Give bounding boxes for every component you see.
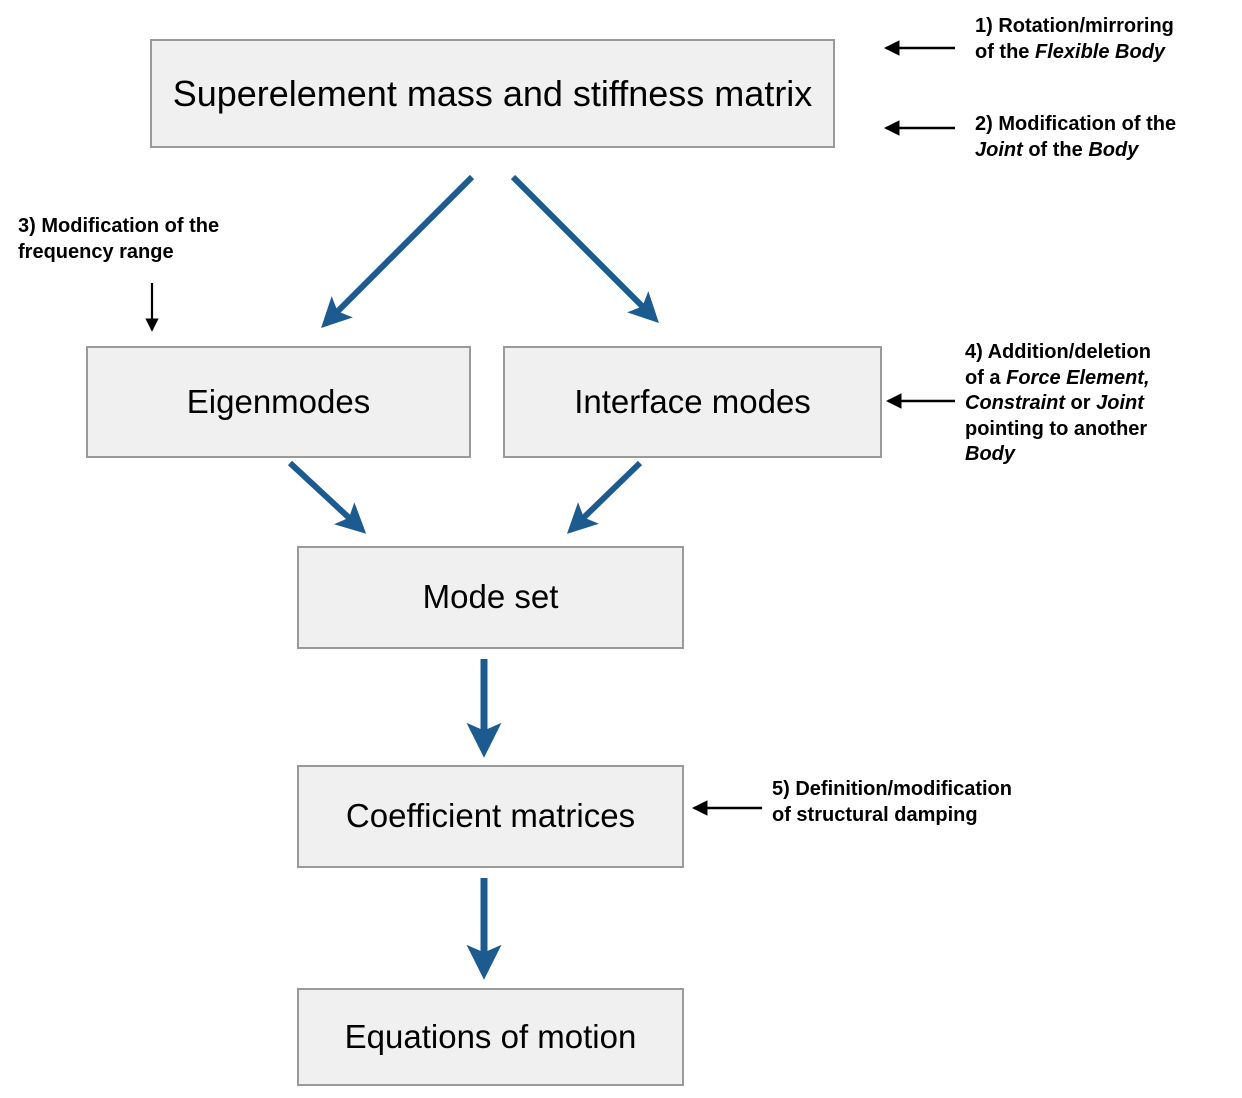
annotation-run: of a (965, 367, 1006, 389)
flow-arrow-superelement-to-eigenmodes (327, 177, 472, 322)
annotation-1: 1) Rotation/mirroringof the Flexible Bod… (975, 14, 1240, 65)
annotation-number: 3) (18, 215, 41, 237)
annotation-run: frequency range (18, 241, 174, 263)
node-superelement-label: Superelement mass and stiffness matrix (173, 74, 813, 114)
annotation-number: 4) (965, 341, 988, 363)
annotation-number: 2) (975, 113, 998, 135)
annotation-run: Modification of the (998, 113, 1176, 135)
node-coefficient-matrices-label: Coefficient matrices (346, 798, 635, 834)
annotation-emphasis: Constraint (965, 392, 1065, 414)
annotation-2: 2) Modification of theJoint of the Body (975, 112, 1240, 163)
node-mode-set[interactable]: Mode set (297, 546, 684, 649)
annotation-number: 1) (975, 15, 998, 37)
annotation-run: of structural damping (772, 804, 978, 826)
annotation-run: Definition/modification (795, 778, 1012, 800)
annotation-run: Rotation/mirroring (998, 15, 1174, 37)
node-eigenmodes[interactable]: Eigenmodes (86, 346, 471, 458)
flow-arrow-interface-modes-to-mode-set (573, 463, 640, 528)
annotation-number: 5) (772, 778, 795, 800)
node-equations-of-motion-label: Equations of motion (345, 1019, 637, 1055)
annotation-3-text: 3) Modification of thefrequency range (18, 215, 219, 263)
annotation-emphasis: Joint (975, 139, 1023, 161)
annotation-4-text: 4) Addition/deletionof a Force Element,C… (965, 341, 1151, 465)
annotation-run: Modification of the (41, 215, 219, 237)
annotation-4: 4) Addition/deletionof a Force Element,C… (965, 340, 1237, 468)
node-interface-modes-label: Interface modes (574, 384, 811, 420)
annotation-emphasis: Body (965, 443, 1015, 465)
annotation-emphasis: Flexible Body (1035, 41, 1165, 63)
node-interface-modes[interactable]: Interface modes (503, 346, 882, 458)
flow-arrow-superelement-to-interface-modes (513, 177, 653, 317)
node-mode-set-label: Mode set (423, 579, 559, 615)
annotation-run: pointing to another (965, 418, 1147, 440)
node-coefficient-matrices[interactable]: Coefficient matrices (297, 765, 684, 868)
annotation-run: Addition/deletion (988, 341, 1151, 363)
annotation-2-text: 2) Modification of theJoint of the Body (975, 113, 1176, 161)
annotation-5: 5) Definition/modificationof structural … (772, 777, 1102, 828)
flowchart-diagram: Superelement mass and stiffness matrix E… (0, 0, 1242, 1098)
node-equations-of-motion[interactable]: Equations of motion (297, 988, 684, 1086)
annotation-emphasis: Joint (1096, 392, 1144, 414)
annotation-run: of the (1023, 139, 1089, 161)
node-eigenmodes-label: Eigenmodes (187, 384, 370, 420)
annotation-emphasis: Body (1088, 139, 1138, 161)
node-superelement[interactable]: Superelement mass and stiffness matrix (150, 39, 835, 148)
flow-arrow-eigenmodes-to-mode-set (290, 463, 360, 528)
annotation-1-text: 1) Rotation/mirroringof the Flexible Bod… (975, 15, 1174, 63)
annotation-run: of the (975, 41, 1035, 63)
annotation-3: 3) Modification of thefrequency range (18, 214, 298, 265)
annotation-run: or (1065, 392, 1096, 414)
annotation-5-text: 5) Definition/modificationof structural … (772, 778, 1012, 826)
annotation-emphasis: Force Element, (1006, 367, 1149, 389)
